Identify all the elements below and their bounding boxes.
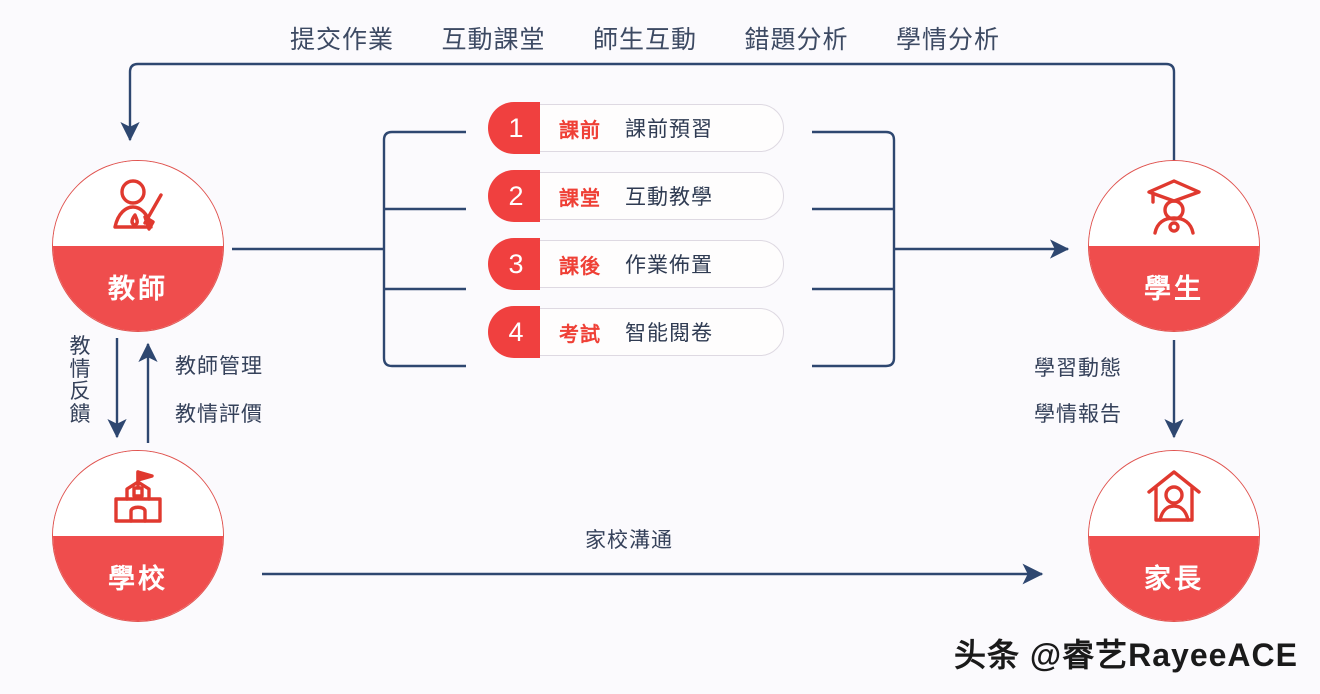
house-person-icon	[1143, 468, 1205, 531]
role-node-student[interactable]: 學生	[1088, 160, 1260, 332]
annotation-teaching-feedback: 教情反饋	[68, 336, 92, 427]
top-label-teacher-student-interaction: 師生互動	[593, 20, 697, 56]
stage-card-3-body: 課後 作業佈置	[516, 240, 784, 288]
top-label-error-analysis: 錯題分析	[744, 20, 848, 56]
annotation-teacher-management: 教師管理	[175, 350, 263, 380]
stage-card-4-stage: 考試	[559, 318, 601, 347]
stage-card-4-number: 4	[508, 319, 523, 346]
stage-card-2-number: 2	[508, 183, 523, 210]
role-node-school[interactable]: 學校	[52, 450, 224, 622]
stage-card-4-badge: 4	[488, 306, 540, 358]
annotation-learning-dynamics: 學習動態	[1034, 352, 1122, 382]
parent-icon-area	[1089, 451, 1259, 536]
watermark-text: 头条 @睿艺RayeeACE	[954, 630, 1298, 676]
teacher-pointer-icon	[105, 177, 171, 242]
stage-card-2[interactable]: 課堂 互動教學 2	[488, 172, 784, 220]
annotation-teacher-evaluation: 教情評價	[175, 398, 263, 428]
school-label-area: 學校	[53, 536, 223, 621]
annotation-learning-report: 學情報告	[1034, 398, 1122, 428]
role-node-teacher[interactable]: 教師	[52, 160, 224, 332]
stage-card-3-number: 3	[508, 251, 523, 278]
student-icon-area	[1089, 161, 1259, 246]
stage-card-1-badge: 1	[488, 102, 540, 154]
top-process-label-row: 提交作業 互動課堂 師生互動 錯題分析 學情分析	[290, 20, 1000, 56]
role-node-parent[interactable]: 家長	[1088, 450, 1260, 622]
top-label-learning-analysis: 學情分析	[896, 20, 1000, 56]
graduate-cap-person-icon	[1143, 177, 1205, 242]
stage-card-3[interactable]: 課後 作業佈置 3	[488, 240, 784, 288]
top-label-interactive-class: 互動課堂	[441, 20, 545, 56]
stage-card-4-action: 智能閱卷	[625, 317, 713, 347]
stage-card-1[interactable]: 課前 課前預習 1	[488, 104, 784, 152]
school-icon-area	[53, 451, 223, 536]
annotation-home-school-communication: 家校溝通	[585, 524, 673, 554]
teacher-icon-area	[53, 161, 223, 246]
wire-left-bracket	[384, 132, 466, 366]
stage-card-1-stage: 課前	[559, 114, 601, 143]
diagram-canvas: 提交作業 互動課堂 師生互動 錯題分析 學情分析 教師	[0, 0, 1320, 694]
top-label-submit-homework: 提交作業	[290, 20, 394, 56]
stage-card-3-badge: 3	[488, 238, 540, 290]
stage-card-1-body: 課前 課前預習	[516, 104, 784, 152]
teacher-label-area: 教師	[53, 246, 223, 331]
stage-card-2-body: 課堂 互動教學	[516, 172, 784, 220]
stage-card-2-badge: 2	[488, 170, 540, 222]
stage-card-2-action: 互動教學	[625, 181, 713, 211]
stage-card-3-stage: 課後	[559, 250, 601, 279]
student-label-area: 學生	[1089, 246, 1259, 331]
role-label-teacher: 教師	[108, 267, 168, 306]
parent-label-area: 家長	[1089, 536, 1259, 621]
stage-card-2-stage: 課堂	[559, 182, 601, 211]
stage-card-1-number: 1	[508, 115, 523, 142]
role-label-school: 學校	[108, 557, 168, 596]
stage-card-3-action: 作業佈置	[625, 249, 713, 279]
wire-right-bracket	[812, 132, 894, 366]
stage-card-4[interactable]: 考試 智能閱卷 4	[488, 308, 784, 356]
stage-card-4-body: 考試 智能閱卷	[516, 308, 784, 356]
stage-card-list: 課前 課前預習 1 課堂 互動教學 2 課後 作業佈置 3	[488, 104, 784, 376]
role-label-parent: 家長	[1144, 557, 1204, 596]
school-building-flag-icon	[107, 467, 169, 532]
stage-card-1-action: 課前預習	[625, 113, 713, 143]
role-label-student: 學生	[1144, 267, 1204, 306]
